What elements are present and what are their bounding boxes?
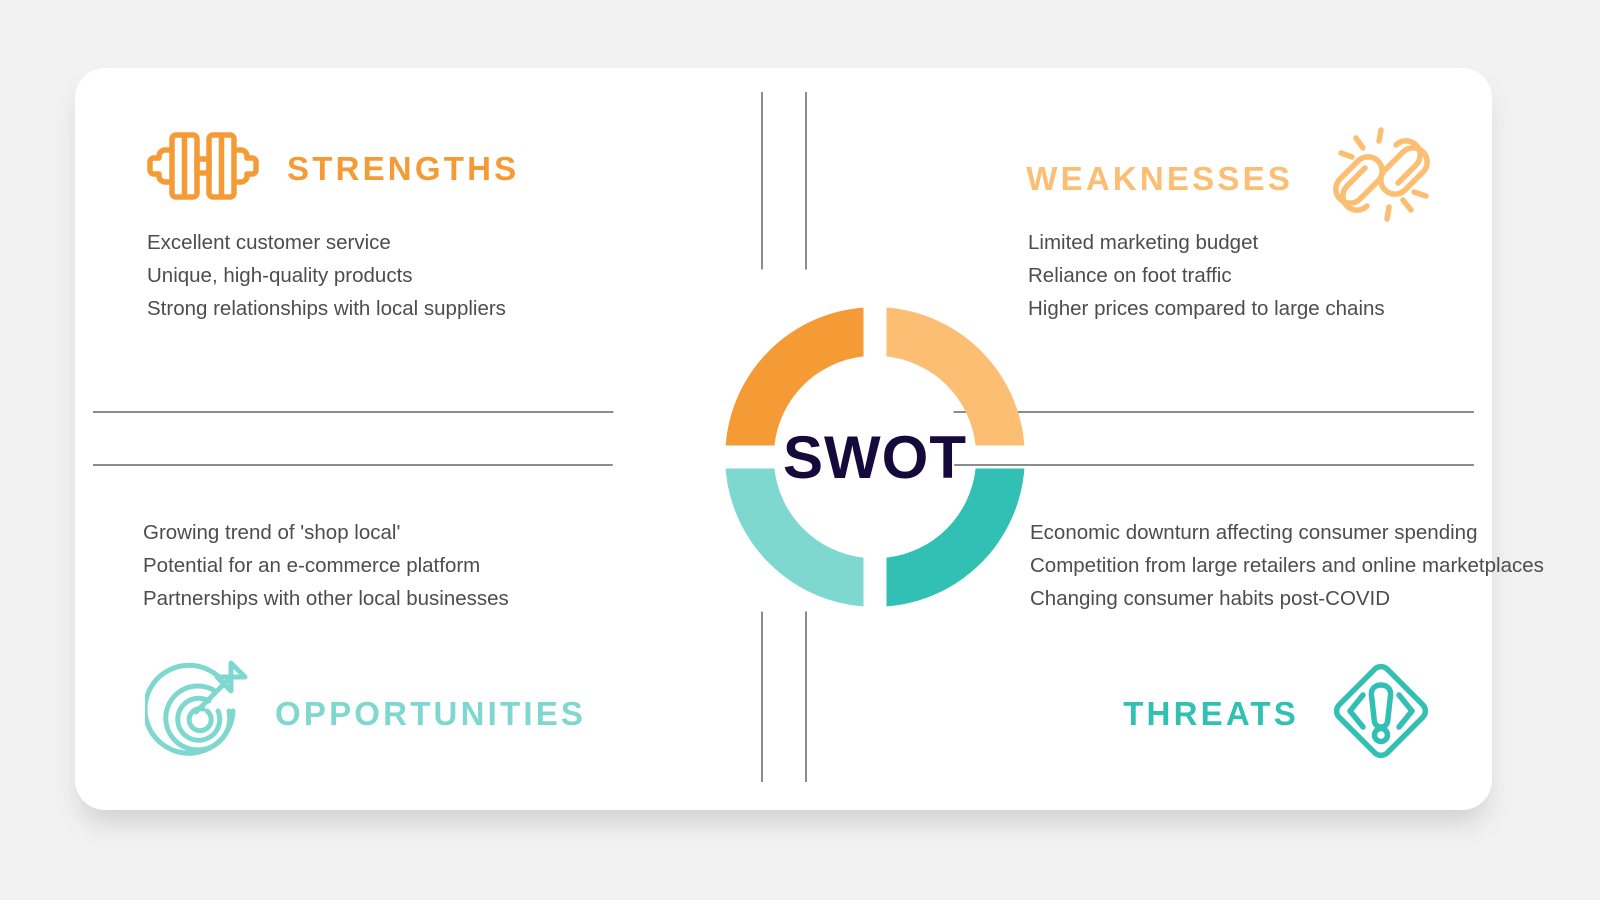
list-item: Unique, high-quality products xyxy=(147,259,506,292)
threats-list: Economic downturn affecting consumer spe… xyxy=(1030,516,1550,615)
strengths-list: Excellent customer service Unique, high-… xyxy=(147,226,506,325)
broken-chain-icon xyxy=(1319,126,1437,231)
list-item: Growing trend of 'shop local' xyxy=(143,516,509,549)
swot-diagram-canvas: STRENGTHS Excellent customer service Uni… xyxy=(0,0,1600,900)
list-item: Changing consumer habits post-COVID xyxy=(1030,582,1550,615)
opportunities-title: OPPORTUNITIES xyxy=(275,695,586,733)
list-item: Economic downturn affecting consumer spe… xyxy=(1030,516,1550,549)
target-arrow-icon xyxy=(145,659,249,768)
list-item: Partnerships with other local businesses xyxy=(143,582,509,615)
list-item: Strong relationships with local supplier… xyxy=(147,292,506,325)
opportunities-list: Growing trend of 'shop local' Potential … xyxy=(143,516,509,615)
dumbbell-icon xyxy=(145,126,261,211)
threats-title: THREATS xyxy=(1123,695,1299,733)
weaknesses-header: WEAKNESSES xyxy=(1026,126,1437,231)
list-item: Limited marketing budget xyxy=(1028,226,1385,259)
weaknesses-list: Limited marketing budget Reliance on foo… xyxy=(1028,226,1385,325)
swot-center-label: SWOT xyxy=(689,271,1061,643)
list-item: Competition from large retailers and onl… xyxy=(1030,549,1550,582)
list-item: Reliance on foot traffic xyxy=(1028,259,1385,292)
weaknesses-title: WEAKNESSES xyxy=(1026,160,1293,198)
list-item: Higher prices compared to large chains xyxy=(1028,292,1385,325)
threats-header: THREATS xyxy=(1123,655,1437,772)
list-item: Excellent customer service xyxy=(147,226,506,259)
opportunities-header: OPPORTUNITIES xyxy=(145,659,586,768)
swot-card: STRENGTHS Excellent customer service Uni… xyxy=(75,68,1492,810)
strengths-title: STRENGTHS xyxy=(287,150,519,188)
warning-diamond-icon xyxy=(1325,655,1437,772)
list-item: Potential for an e-commerce platform xyxy=(143,549,509,582)
strengths-header: STRENGTHS xyxy=(145,126,519,211)
